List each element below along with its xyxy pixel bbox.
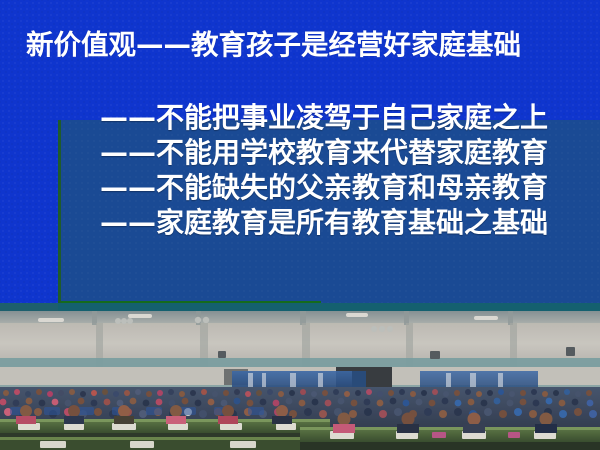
slide-title: 新价值观——教育孩子是经营好家庭基础 bbox=[26, 28, 586, 62]
bullet-line-4: ——家庭教育是所有教育基础之基础 bbox=[46, 205, 548, 240]
presentation-slide: 新价值观——教育孩子是经营好家庭基础 ——不能把事业凌驾于自己家庭之上 ——不能… bbox=[0, 0, 600, 450]
bullet-line-2: ——不能用学校教育来代替家庭教育 bbox=[46, 135, 548, 170]
teal-divider-strip-left bbox=[0, 303, 58, 311]
bullet-list: ——不能把事业凌驾于自己家庭之上 ——不能用学校教育来代替家庭教育 ——不能缺失… bbox=[46, 100, 548, 240]
auditorium-audience-photo bbox=[0, 311, 600, 450]
teal-divider-strip bbox=[0, 303, 600, 311]
bullet-line-1: ——不能把事业凌驾于自己家庭之上 bbox=[46, 100, 548, 135]
bullet-line-3: ——不能缺失的父亲教育和母亲教育 bbox=[46, 170, 548, 205]
